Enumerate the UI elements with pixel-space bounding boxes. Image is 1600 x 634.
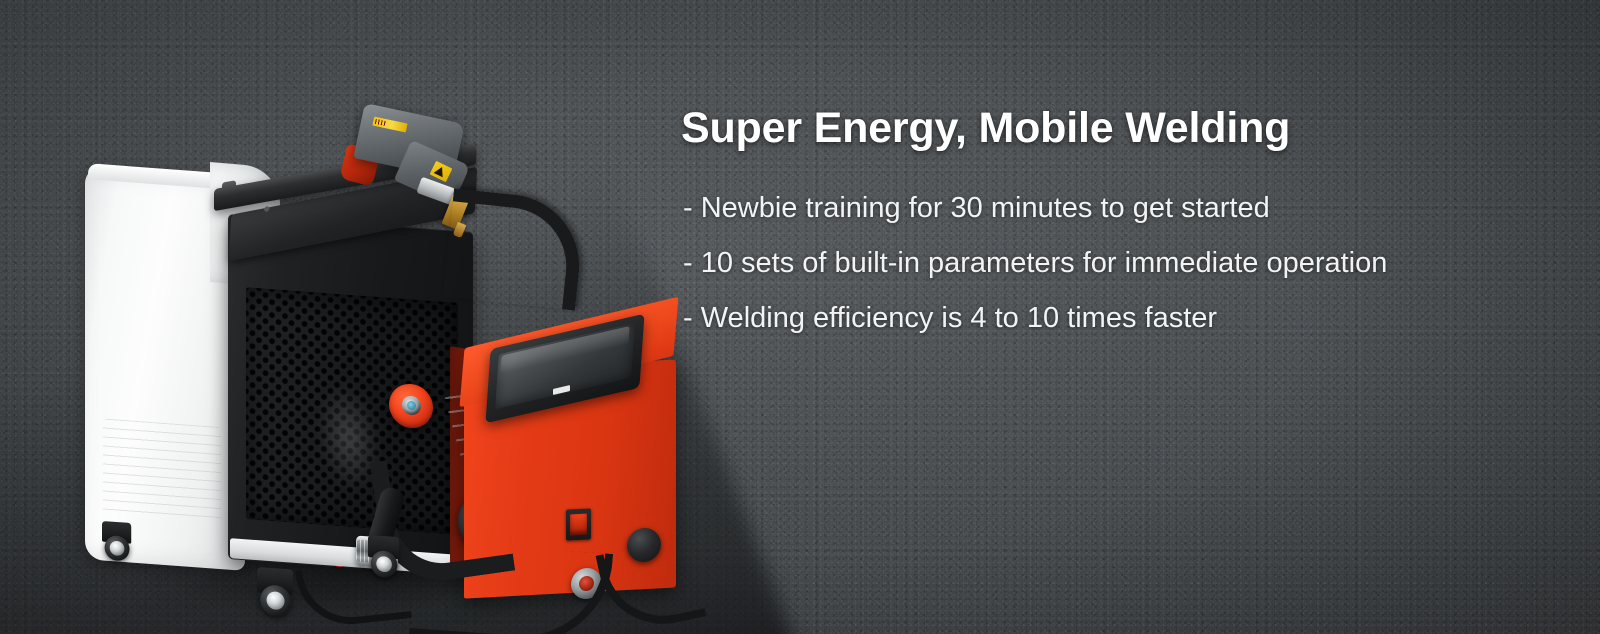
feature-list: - Newbie training for 30 minutes to get … [683,194,1561,333]
caster-hubcap-icon [110,540,125,556]
caster-hubcap-icon [267,591,285,610]
feature-list-item-2: - 10 sets of built-in parameters for imm… [683,249,1561,278]
caster-hubcap-icon [376,556,392,573]
emergency-stop-core-icon [402,395,421,415]
product-image-laser-welder [60,95,680,595]
floor-cable-center [409,540,613,634]
feature-list-item-3: - Welding efficiency is 4 to 10 times fa… [683,304,1561,333]
banner-headline: Super Energy, Mobile Welding [681,104,1561,152]
promo-banner: Super Energy, Mobile Welding - Newbie tr… [0,0,1600,634]
marketing-copy-block: Super Energy, Mobile Welding - Newbie tr… [681,104,1561,333]
power-rocker-switch[interactable] [566,508,591,540]
feature-list-item-1: - Newbie training for 30 minutes to get … [683,194,1561,223]
gun-cable-arm [443,188,587,310]
